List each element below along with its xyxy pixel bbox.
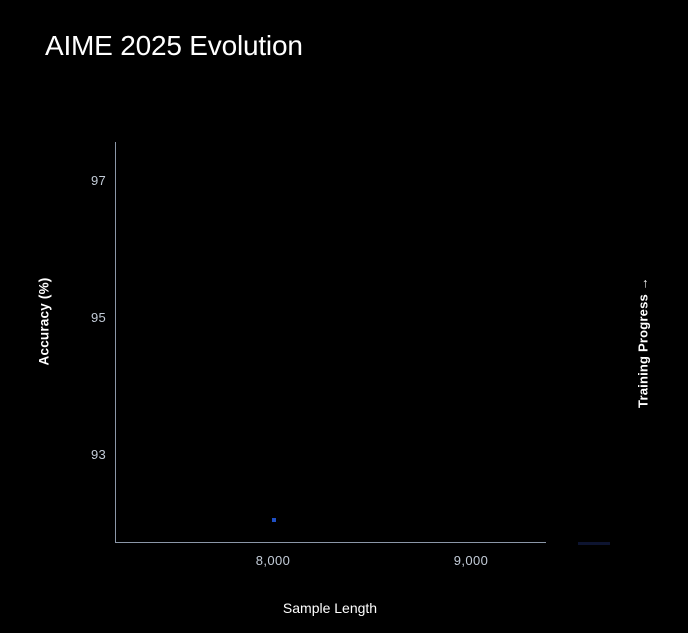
x-axis-spine (115, 542, 546, 543)
y-tick-label: 95 (6, 310, 106, 325)
data-point (272, 518, 276, 522)
x-axis-label: Sample Length (0, 600, 660, 616)
x-tick-label: 8,000 (213, 553, 333, 568)
plot-area (115, 142, 545, 542)
y-axis-label: Accuracy (%) (37, 212, 52, 432)
x-tick-label: 9,000 (411, 553, 531, 568)
y-tick-label: 97 (6, 173, 106, 188)
chart-figure: AIME 2025 Evolution 97 95 93 8,000 9,000… (0, 0, 688, 633)
y-tick-label: 93 (6, 447, 106, 462)
colorbar-strip (578, 542, 610, 545)
colorbar-label-training-progress: Training Progress → (636, 233, 651, 453)
y-axis-tick-labels: 97 95 93 (0, 0, 106, 633)
